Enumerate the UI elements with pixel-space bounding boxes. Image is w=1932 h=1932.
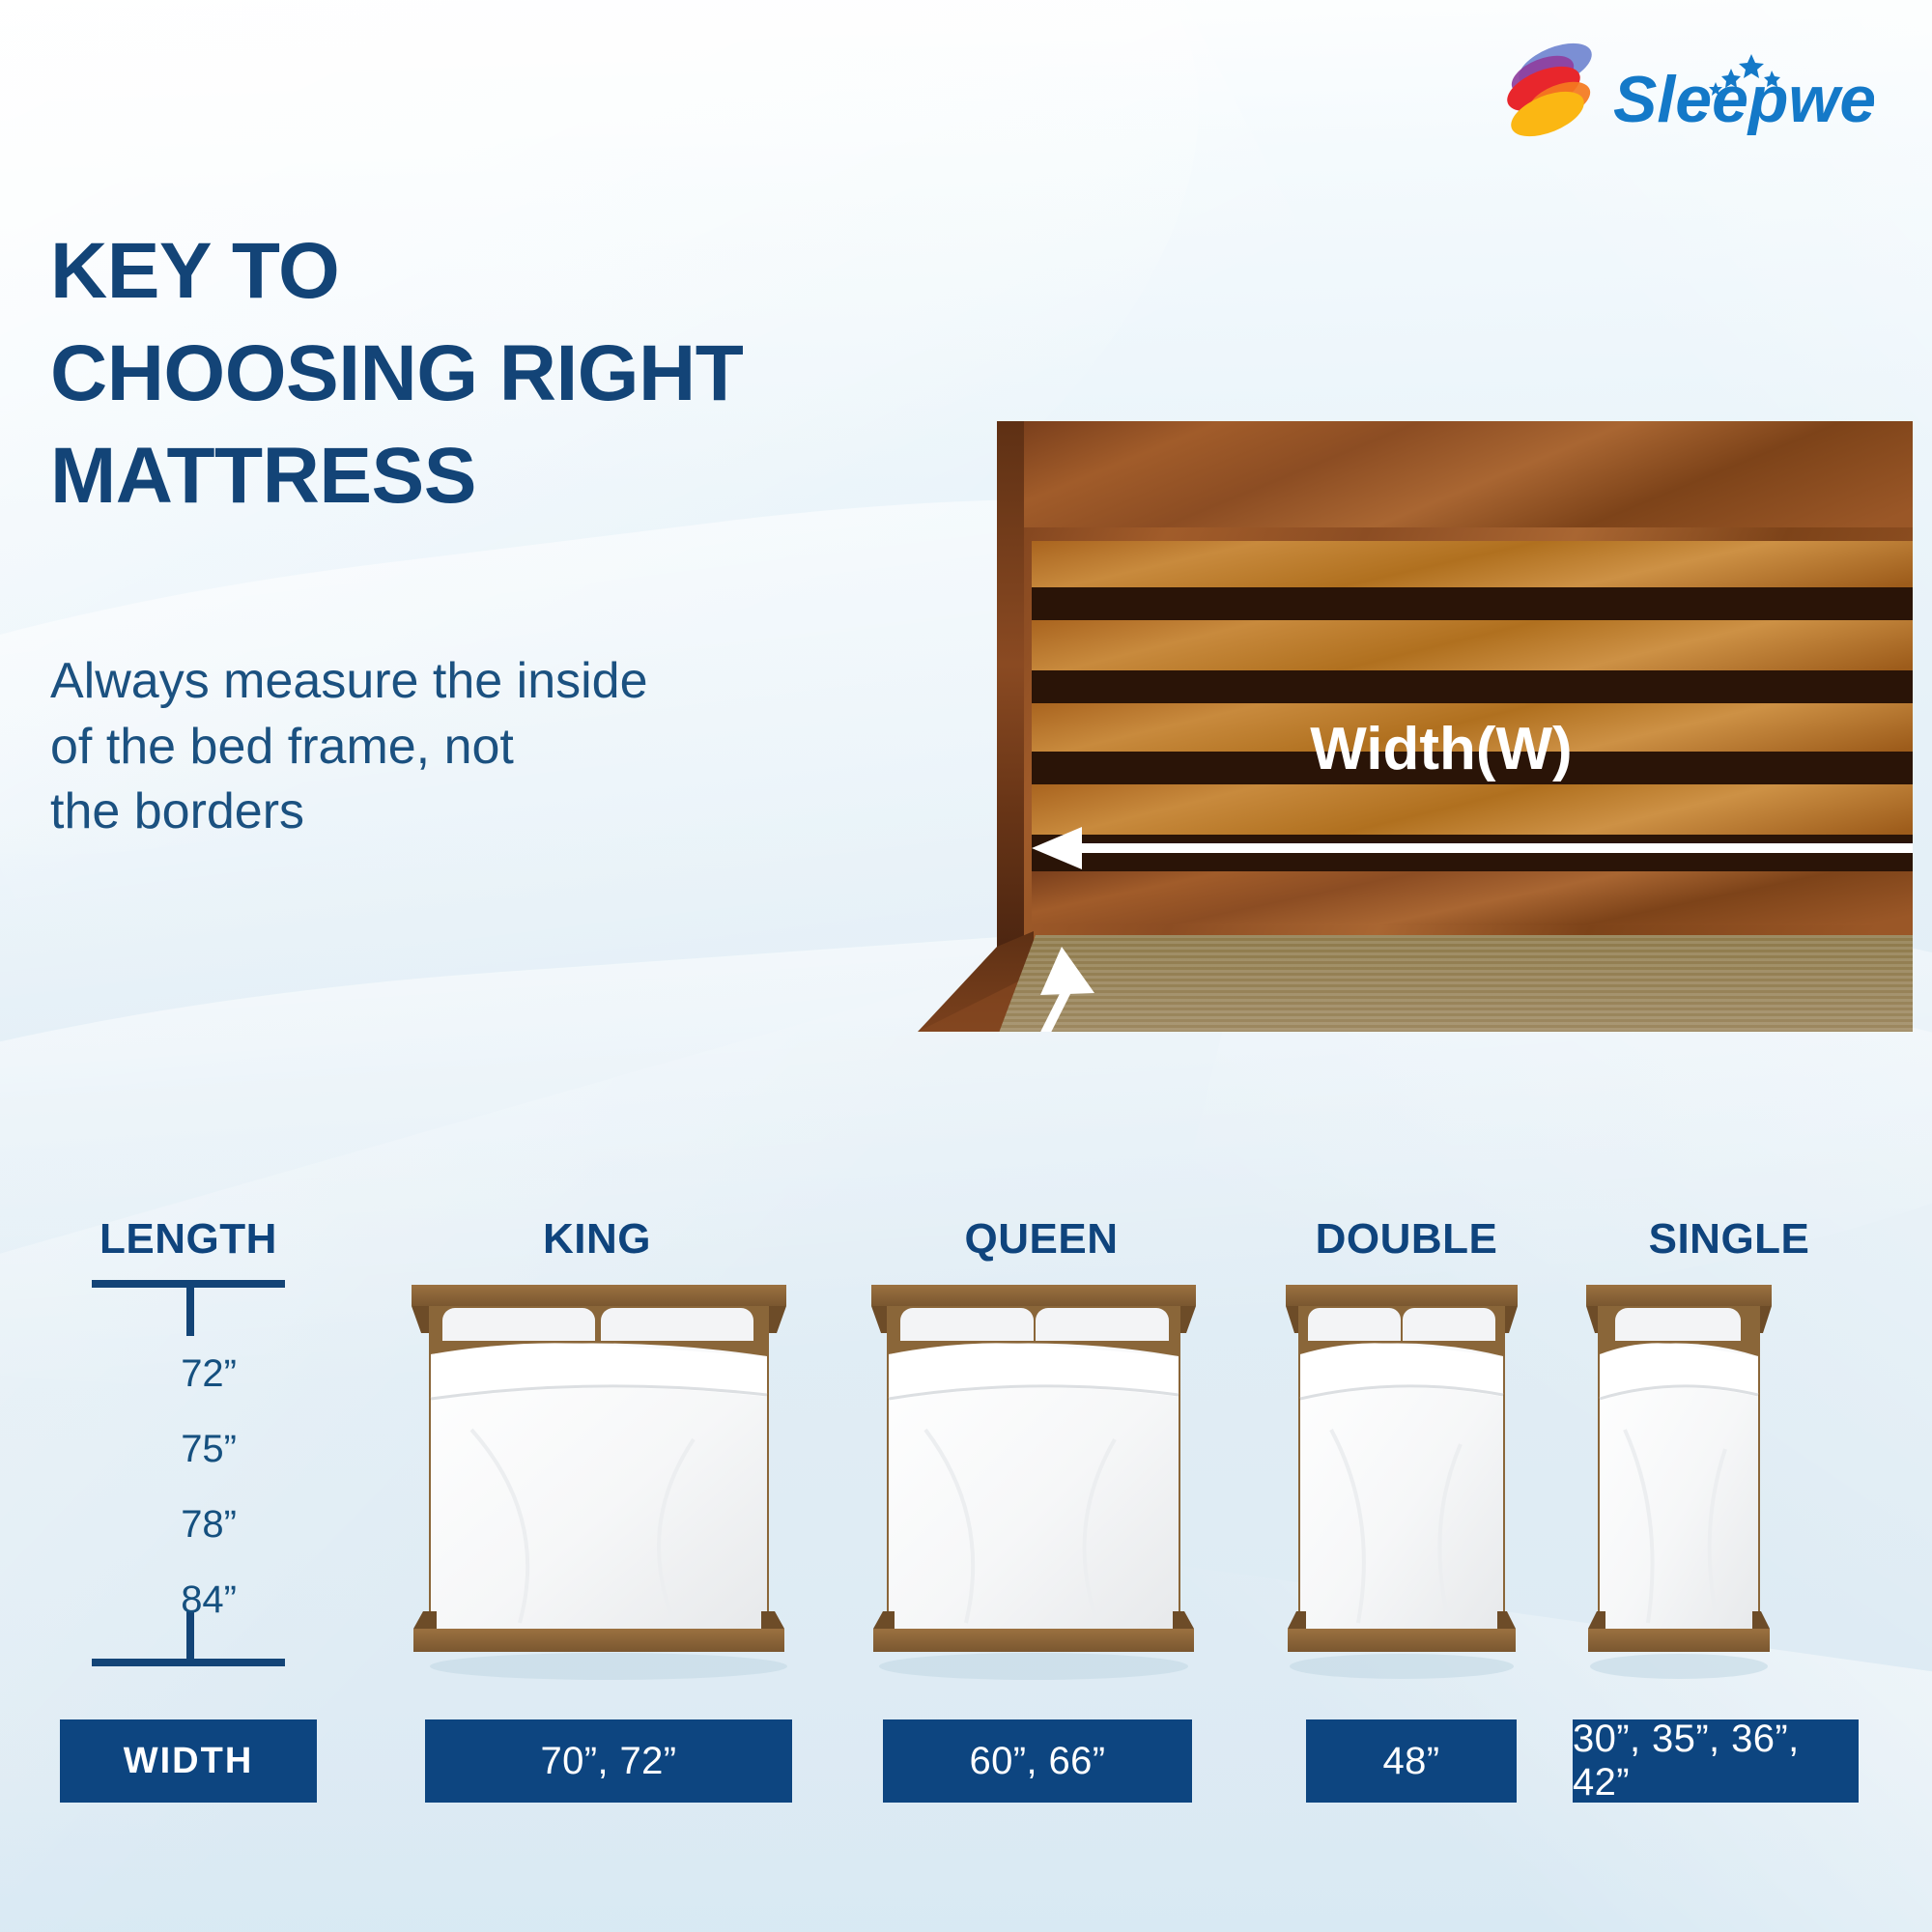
bed-frame-illustration: Width(W) Length(L) xyxy=(792,355,1913,1032)
column-header-king: KING xyxy=(481,1215,713,1264)
column-header-double: DOUBLE xyxy=(1291,1215,1522,1264)
sleepwell-logo-icon: Sleepwell xyxy=(1488,37,1874,143)
bed-illustration-king xyxy=(404,1285,794,1681)
length-scale-top-tick xyxy=(186,1280,194,1336)
length-value-75: 75” xyxy=(121,1428,237,1471)
subtitle-line-3: the borders xyxy=(50,780,842,845)
bed-illustration-single xyxy=(1582,1285,1776,1681)
sleepwell-logo: Sleepwell xyxy=(1488,37,1874,143)
subtitle-line-1: Always measure the inside xyxy=(50,649,842,715)
bed-illustration-double xyxy=(1281,1285,1522,1681)
length-scale xyxy=(92,1280,285,1686)
column-header-single: SINGLE xyxy=(1613,1215,1845,1264)
width-value-king: 70”, 72” xyxy=(425,1719,792,1803)
infographic-canvas: Sleepwell KEY TO CHOOSING RIGHT MATTRESS… xyxy=(0,0,1932,1932)
length-value-84: 84” xyxy=(121,1578,237,1622)
column-header-length: LENGTH xyxy=(72,1215,304,1264)
length-value-78: 78” xyxy=(121,1503,237,1547)
page-subtitle: Always measure the inside of the bed fra… xyxy=(50,649,842,845)
width-value-single: 30”, 35”, 36”, 42” xyxy=(1573,1719,1859,1803)
logo-wordmark: Sleepwell xyxy=(1613,63,1874,136)
logo-s-mark-icon xyxy=(1501,37,1598,143)
length-scale-bottom-bar xyxy=(92,1659,285,1666)
subtitle-line-2: of the bed frame, not xyxy=(50,715,842,781)
width-label: Width(W) xyxy=(1310,716,1572,782)
width-value-double: 48” xyxy=(1306,1719,1517,1803)
width-row-label: WIDTH xyxy=(60,1719,317,1803)
width-value-queen: 60”, 66” xyxy=(883,1719,1192,1803)
title-line-1: KEY TO xyxy=(50,220,949,323)
bed-illustration-queen xyxy=(866,1285,1202,1681)
length-value-72: 72” xyxy=(121,1352,237,1396)
column-header-queen: QUEEN xyxy=(925,1215,1157,1264)
